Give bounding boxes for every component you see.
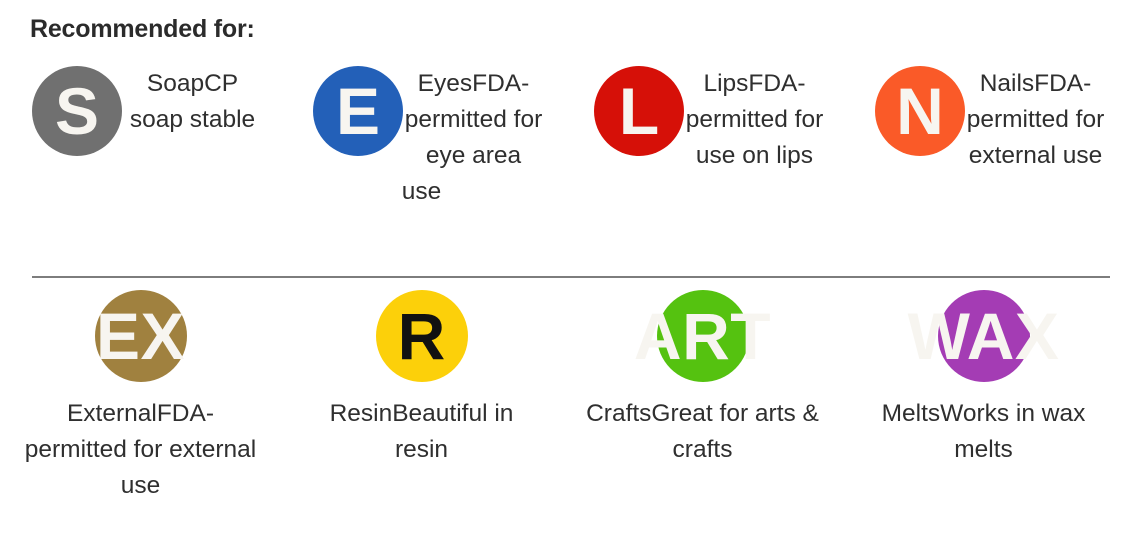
badge-item-crafts[interactable]: ART CraftsGreat for arts & crafts — [562, 290, 843, 468]
crafts-badge-icon: ART — [657, 290, 749, 382]
external-badge-icon: EX — [95, 290, 187, 382]
eyes-badge-icon: E — [313, 66, 403, 156]
badge-item-label: MeltsWorks in wax melts — [863, 396, 1104, 468]
section-divider — [32, 276, 1110, 278]
badge-item-label: CraftsGreat for arts & crafts — [582, 396, 823, 468]
badge-item-lips[interactable]: L LipsFDA-permitted for use on lips — [562, 66, 843, 174]
badge-item-nails[interactable]: N NailsFDA-permitted for external use — [843, 66, 1124, 174]
badge-row-two: EX ExternalFDA-permitted for external us… — [0, 290, 1124, 530]
badge-item-external[interactable]: EX ExternalFDA-permitted for external us… — [0, 290, 281, 504]
nails-badge-icon: N — [875, 66, 965, 156]
lips-badge-icon: L — [594, 66, 684, 156]
badge-item-label: ExternalFDA-permitted for external use — [20, 396, 261, 504]
badge-row-one: S SoapCP soap stable E EyesFDA-permitted… — [0, 66, 1124, 266]
badge-item-resin[interactable]: R ResinBeautiful in resin — [281, 290, 562, 468]
badge-item-soap[interactable]: S SoapCP soap stable — [0, 66, 281, 156]
badge-item-eyes[interactable]: E EyesFDA-permitted for eye area use — [281, 66, 562, 210]
melts-badge-icon: WAX — [938, 290, 1030, 382]
soap-badge-icon: S — [32, 66, 122, 156]
resin-badge-icon: R — [376, 290, 468, 382]
badge-item-label: ResinBeautiful in resin — [301, 396, 542, 468]
page-title: Recommended for: — [30, 14, 255, 44]
badge-item-melts[interactable]: WAX MeltsWorks in wax melts — [843, 290, 1124, 468]
recommended-for-panel: Recommended for: S SoapCP soap stable E … — [0, 0, 1124, 538]
